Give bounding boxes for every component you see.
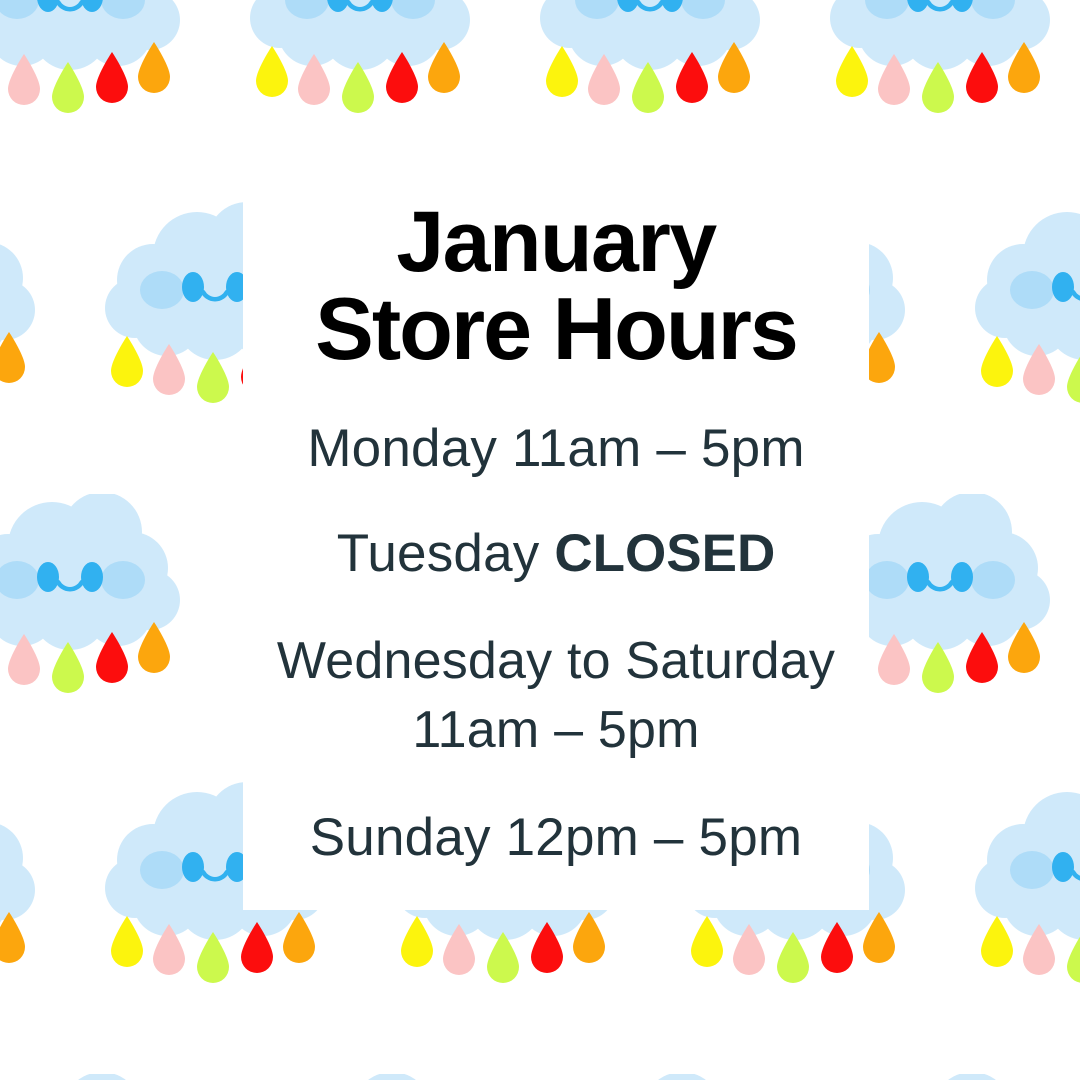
store-hours-card: January Store Hours Monday 11am – 5pm Tu… xyxy=(243,168,869,910)
hours-list: Monday 11am – 5pm Tuesday CLOSED Wednesd… xyxy=(261,418,851,869)
hours-row-sunday: Sunday 12pm – 5pm xyxy=(261,807,851,870)
title-line-1: January xyxy=(261,200,851,285)
poster-canvas: January Store Hours Monday 11am – 5pm Tu… xyxy=(0,0,1080,1080)
title-line-2: Store Hours xyxy=(261,285,851,372)
hours-row-wed-sat-time: 11am – 5pm xyxy=(261,696,851,765)
hours-row-wednesday-saturday: Wednesday to Saturday 11am – 5pm xyxy=(261,627,851,764)
status-badge-closed: CLOSED xyxy=(554,524,775,583)
hours-row-tuesday: Tuesday CLOSED xyxy=(261,523,851,586)
hours-row-tuesday-label: Tuesday xyxy=(337,524,555,583)
hours-row-sunday-text: Sunday 12pm – 5pm xyxy=(310,808,803,867)
hours-row-wed-sat-days: Wednesday to Saturday xyxy=(261,627,851,696)
hours-row-monday-text: Monday 11am – 5pm xyxy=(307,419,804,478)
poster-title: January Store Hours xyxy=(261,200,851,372)
hours-row-monday: Monday 11am – 5pm xyxy=(261,418,851,481)
